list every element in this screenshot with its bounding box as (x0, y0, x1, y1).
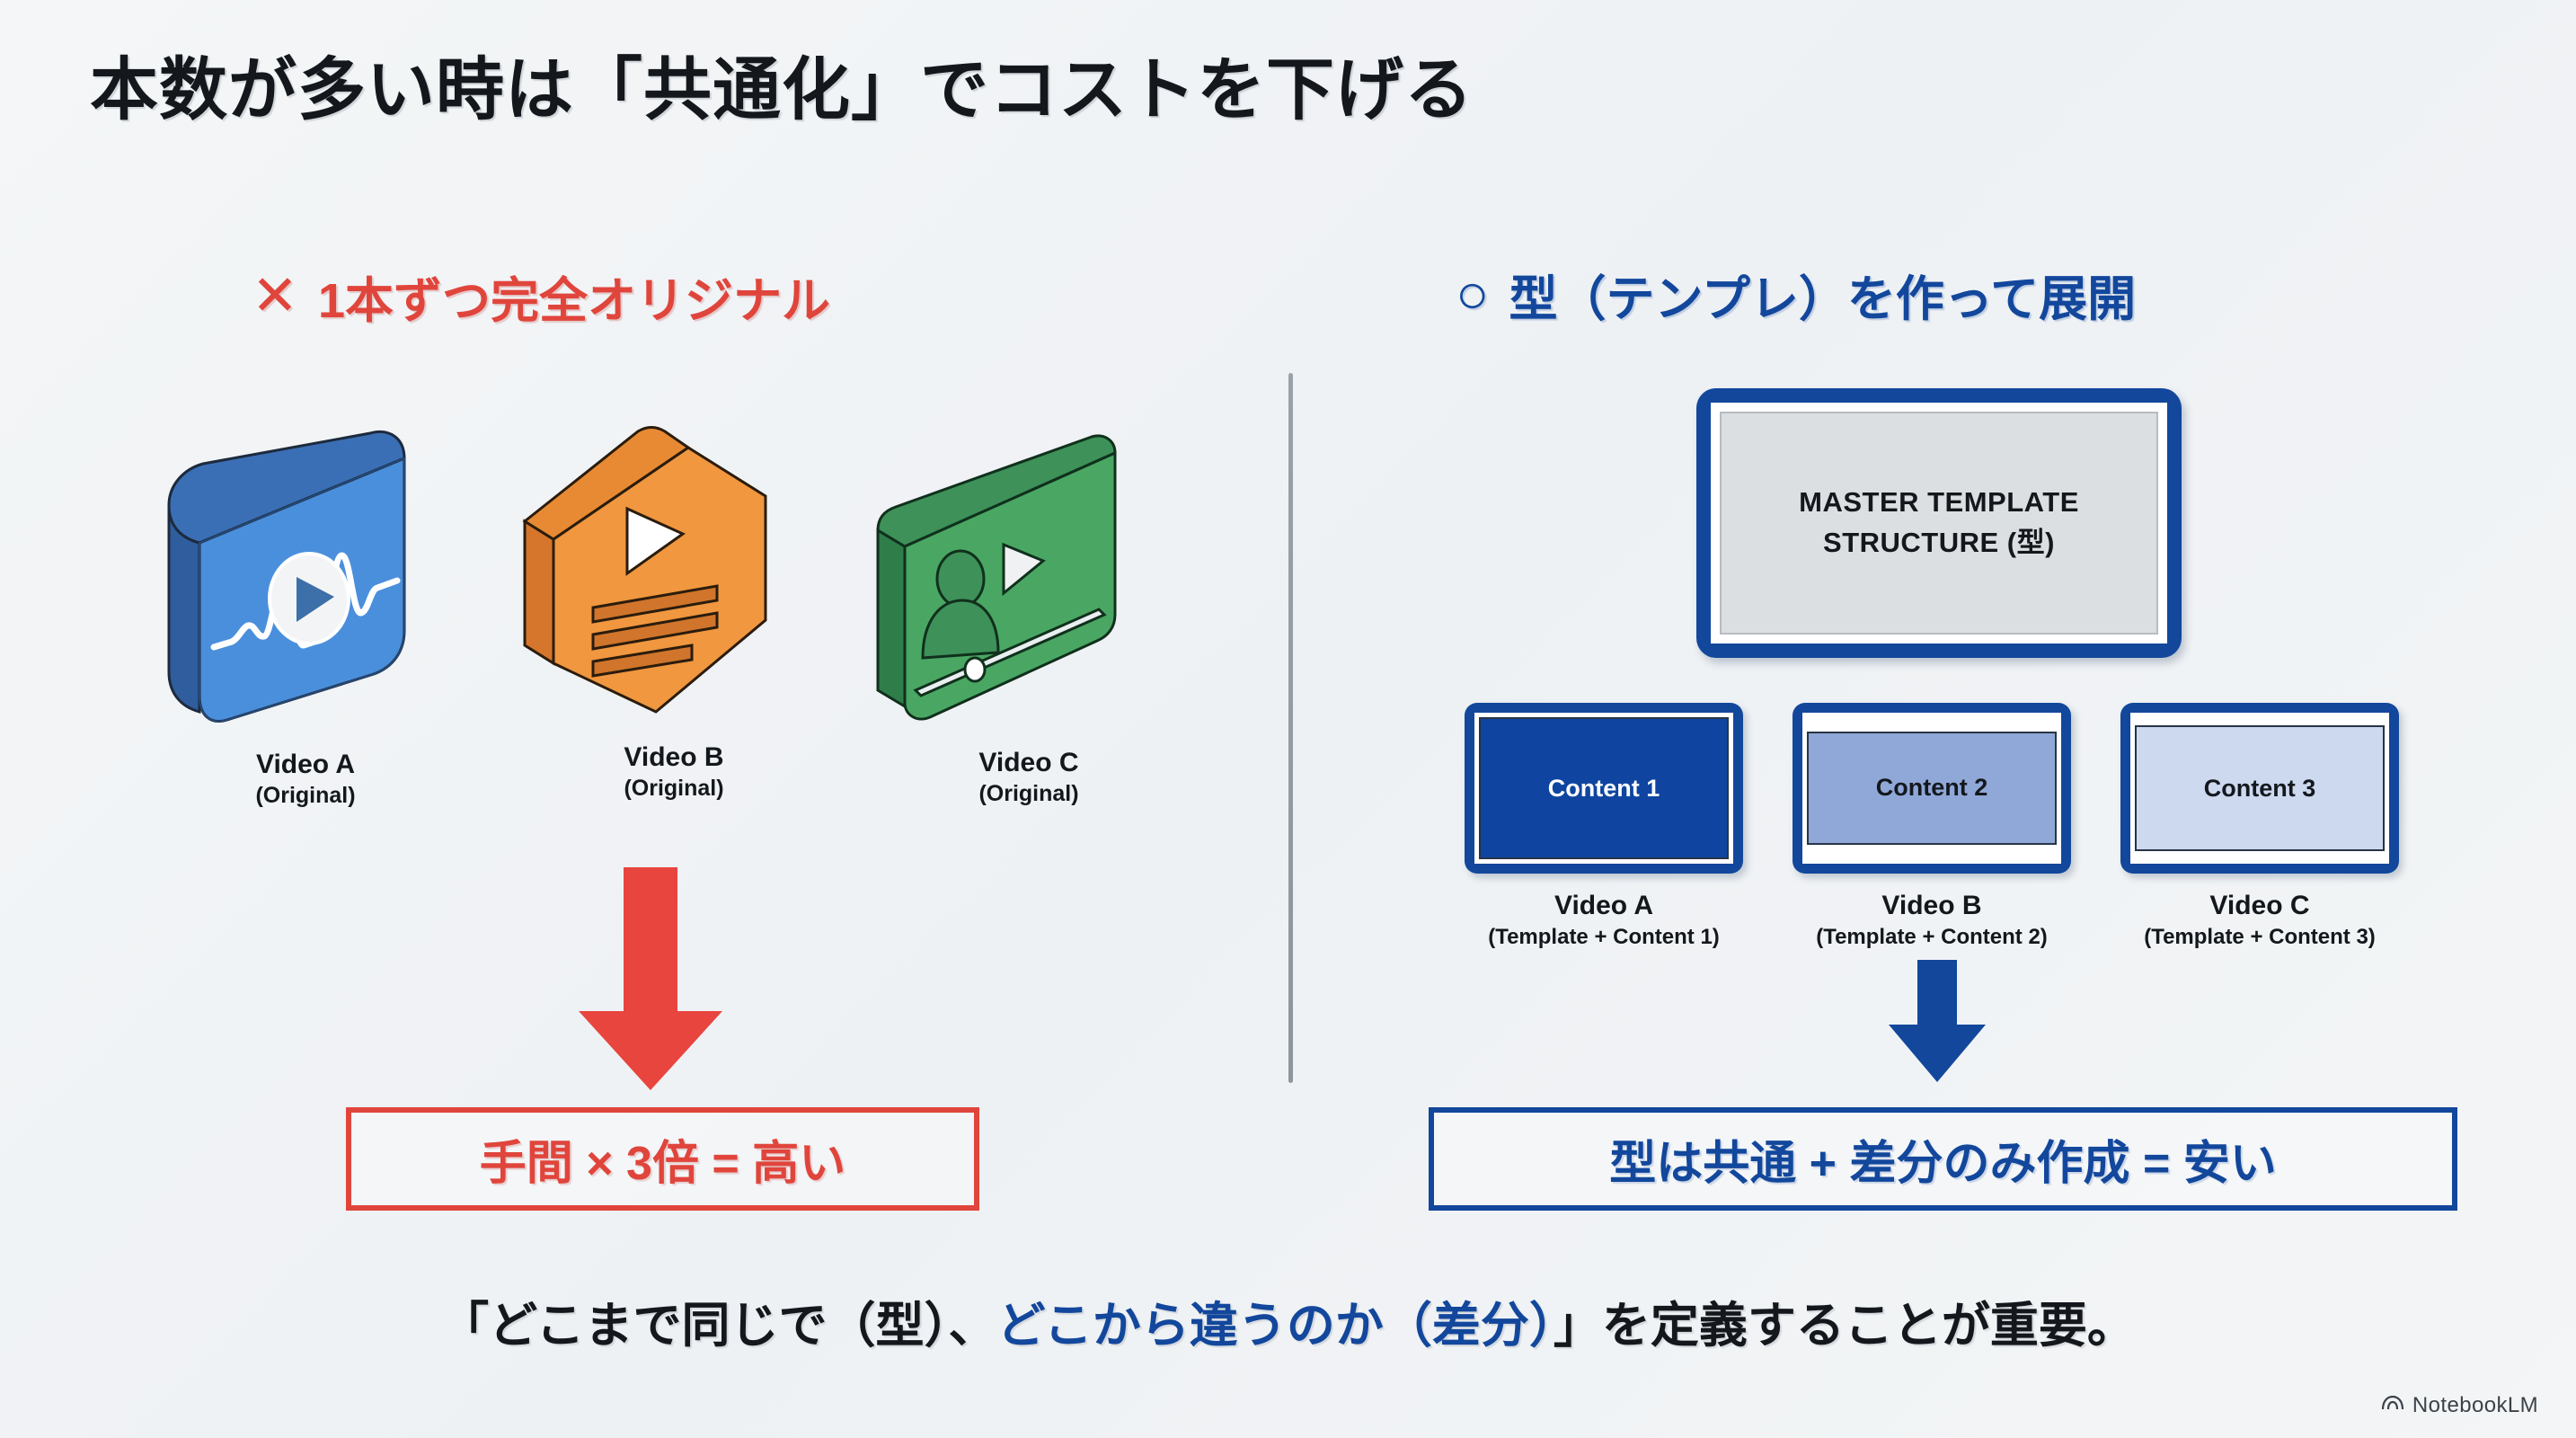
template-video-card-b-label: Video B (Template + Content 2) (1793, 888, 2071, 951)
content-block-2: Content 2 (1807, 732, 2057, 845)
template-video-matte-a: Content 1 (1474, 713, 1733, 864)
circle-mark-icon: ○ (1456, 267, 1489, 323)
waveform-play-icon (144, 422, 440, 737)
template-video-frame-a: Content 1 (1465, 703, 1743, 874)
bottom-takeaway: 「どこまで同じで（型）、どこから違うのか（差分）」を定義することが重要。 (0, 1285, 2576, 1356)
template-video-card-b: Content 2 Video B (Template + Content 2) (1793, 703, 2071, 951)
column-heading-template: ○ 型（テンプレ）を作って展開 (1456, 259, 2136, 330)
slide-canvas: 本数が多い時は「共通化」でコストを下げる ✕ 1本ずつ完全オリジナル ○ 型（テ… (0, 0, 2576, 1438)
notebooklm-icon (2381, 1393, 2404, 1418)
hexagon-play-lines-icon (512, 415, 809, 730)
conclusion-box-right: 型は共通 + 差分のみ作成 = 安い (1429, 1107, 2457, 1211)
watermark: NotebookLM (2381, 1393, 2538, 1418)
player-avatar-progress-icon (867, 421, 1164, 735)
original-video-card-c-label: Video C (Original) (867, 746, 1191, 808)
column-heading-original-label: 1本ずつ完全オリジナル (318, 261, 830, 332)
master-template-panel: MASTER TEMPLATE STRUCTURE (型) (1720, 412, 2158, 635)
content-block-1: Content 1 (1479, 717, 1729, 859)
original-video-card-b-label: Video B (Original) (512, 741, 836, 803)
conclusion-box-left: 手間 × 3倍 = 高い (346, 1107, 979, 1211)
page-title: 本数が多い時は「共通化」でコストを下げる (90, 34, 1474, 133)
original-video-card-a: Video A (Original) (144, 422, 467, 810)
bottom-takeaway-highlight: どこから違うのか（差分） (997, 1299, 1554, 1353)
column-divider (1288, 373, 1293, 1083)
original-video-card-c: Video C (Original) (867, 421, 1191, 808)
cross-mark-icon: ✕ (252, 269, 298, 324)
template-video-matte-c: Content 3 (2130, 713, 2389, 864)
template-video-frame-b: Content 2 (1793, 703, 2071, 874)
original-video-card-b: Video B (Original) (512, 415, 836, 803)
column-heading-template-label: 型（テンプレ）を作って展開 (1509, 259, 2136, 330)
template-video-card-a-label: Video A (Template + Content 1) (1465, 888, 1743, 951)
down-arrow-icon-right (1883, 960, 1991, 1090)
content-block-3: Content 3 (2135, 725, 2385, 850)
template-video-card-c: Content 3 Video C (Template + Content 3) (2120, 703, 2399, 951)
original-video-card-a-label: Video A (Original) (144, 748, 467, 810)
master-template-box: MASTER TEMPLATE STRUCTURE (型) (1696, 388, 2182, 658)
template-video-card-a: Content 1 Video A (Template + Content 1) (1465, 703, 1743, 951)
template-video-matte-b: Content 2 (1802, 713, 2061, 864)
template-video-card-c-label: Video C (Template + Content 3) (2120, 888, 2399, 951)
down-arrow-icon-left (571, 867, 730, 1096)
bottom-takeaway-part1: 「どこまで同じで（型）、 (440, 1299, 996, 1353)
master-template-inner: MASTER TEMPLATE STRUCTURE (型) (1711, 403, 2167, 644)
bottom-takeaway-part2: 」を定義することが重要。 (1554, 1299, 2136, 1353)
template-video-frame-c: Content 3 (2120, 703, 2399, 874)
column-heading-original: ✕ 1本ずつ完全オリジナル (252, 261, 830, 332)
watermark-label: NotebookLM (2412, 1393, 2538, 1418)
